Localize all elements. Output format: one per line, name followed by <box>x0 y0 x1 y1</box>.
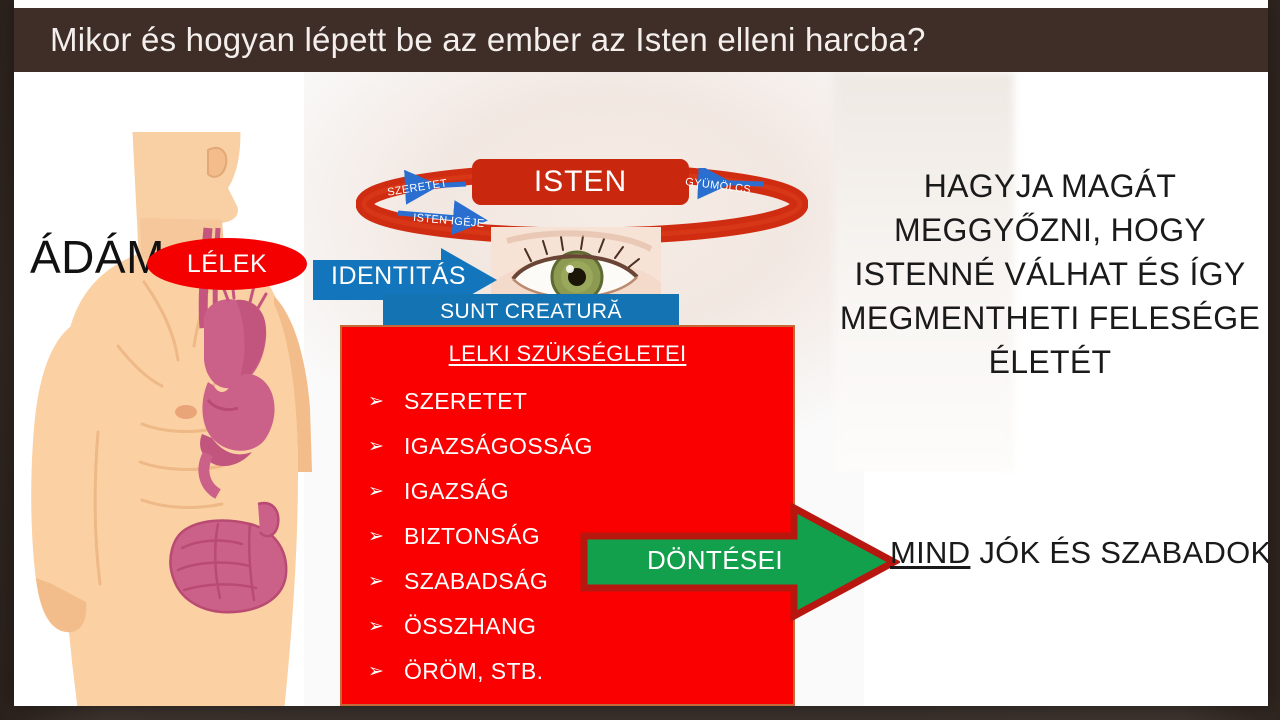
decisions-arrow: DÖNTÉSEI <box>580 502 900 622</box>
adam-label: ÁDÁM <box>30 230 165 284</box>
list-item: ➢ IGAZSÁGOSSÁG <box>368 424 793 469</box>
arrow-bullet-icon: ➢ <box>368 660 404 683</box>
creature-label: SUNT CREATURĂ <box>383 300 679 324</box>
soul-badge-label: LÉLEK <box>187 250 267 279</box>
list-item-label: ÖSSZHANG <box>404 613 536 640</box>
paragraph-line: ISTENNÉ VÁLHAT ÉS ÍGY <box>838 252 1262 296</box>
list-item-label: IGAZSÁG <box>404 478 509 505</box>
page-title: Mikor és hogyan lépett be az ember az Is… <box>14 21 926 59</box>
arrow-bullet-icon: ➢ <box>368 435 404 458</box>
explanation-paragraph: HAGYJA MAGÁT MEGGYŐZNI, HOGY ISTENNÉ VÁL… <box>838 164 1262 384</box>
outcome-rest: JÓK ÉS SZABADOK <box>970 535 1268 570</box>
outcome-underlined: MIND <box>890 535 970 570</box>
list-item: ➢ SZERETET <box>368 379 793 424</box>
list-item-label: SZABADSÁG <box>404 568 548 595</box>
slide-content-area: ÁDÁM LÉLEK ISTEN <box>14 72 1268 706</box>
decisions-arrow-label: DÖNTÉSEI <box>610 545 820 576</box>
slide-title-bar: Mikor és hogyan lépett be az ember az Is… <box>14 8 1268 72</box>
arrow-bullet-icon: ➢ <box>368 570 404 593</box>
paragraph-line: ÉLETÉT <box>838 340 1262 384</box>
human-body-illustration <box>22 132 352 706</box>
outcome-text: MIND JÓK ÉS SZABADOK <box>890 535 1266 571</box>
arrow-bullet-icon: ➢ <box>368 390 404 413</box>
paragraph-line: MEGGYŐZNI, HOGY <box>838 208 1262 252</box>
list-item: ➢ ÖRÖM, STB. <box>368 649 793 694</box>
soul-badge: LÉLEK <box>147 238 307 290</box>
paragraph-line: MEGMENTHETI FELESÉGE <box>838 296 1262 340</box>
slide-canvas: Mikor és hogyan lépett be az ember az Is… <box>14 0 1268 706</box>
list-item-label: SZERETET <box>404 388 527 415</box>
paragraph-line: HAGYJA MAGÁT <box>838 164 1262 208</box>
list-item-label: IGAZSÁGOSSÁG <box>404 433 593 460</box>
arrow-bullet-icon: ➢ <box>368 615 404 638</box>
arrow-bullet-icon: ➢ <box>368 525 404 548</box>
spiritual-needs-heading: LELKI SZÜKSÉGLETEI <box>342 341 793 367</box>
arrow-bullet-icon: ➢ <box>368 480 404 503</box>
identity-arrow-label: IDENTITÁS <box>331 262 466 291</box>
list-item-label: ÖRÖM, STB. <box>404 658 543 685</box>
list-item-label: BIZTONSÁG <box>404 523 540 550</box>
